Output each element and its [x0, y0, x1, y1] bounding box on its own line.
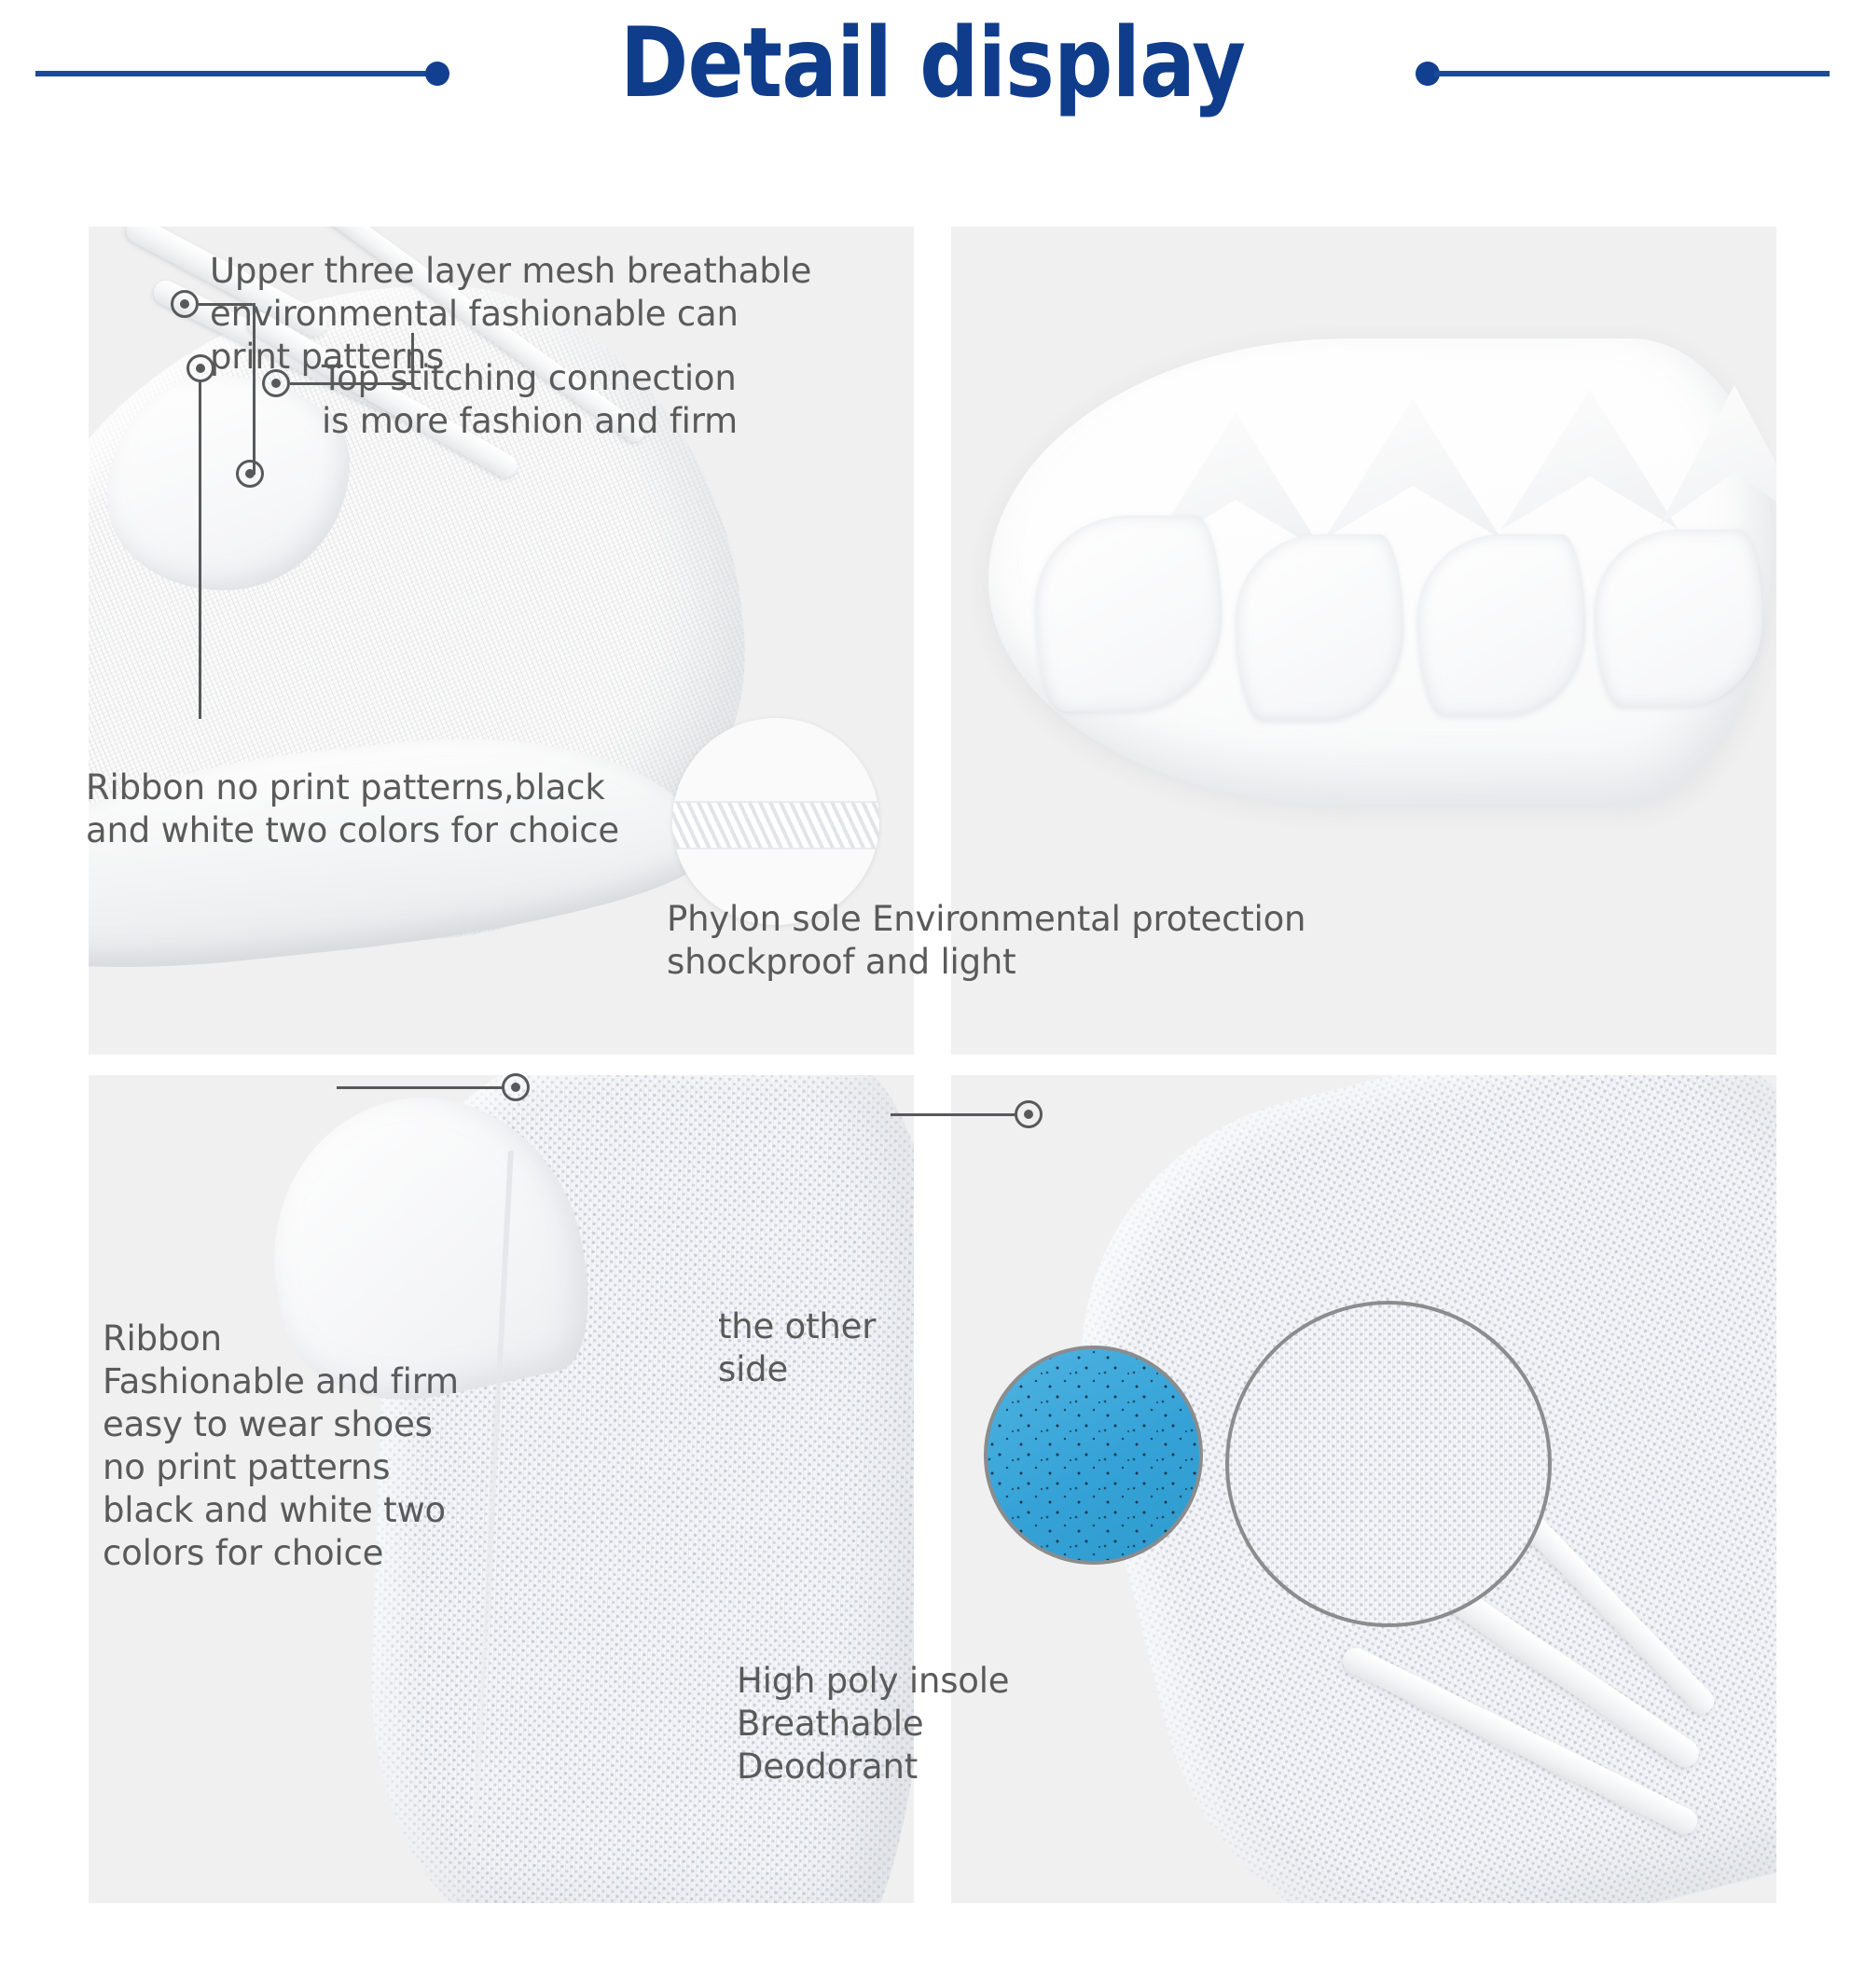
page-header: Detail display — [0, 0, 1865, 157]
stitching-band — [672, 801, 879, 849]
caption-top-stitching: Top stitching connection is more fashion… — [322, 357, 844, 443]
insole-zoom-circle — [984, 1346, 1203, 1565]
callout-marker-upper-mesh[interactable] — [171, 290, 199, 318]
leader-line-insole — [891, 1113, 1017, 1116]
caption-ribbon-heel: Ribbon Fashionable and firm easy to wear… — [103, 1318, 587, 1575]
tread-block — [1417, 534, 1585, 716]
header-decorative-line-right — [1434, 71, 1830, 76]
caption-phylon-sole: Phylon sole Environmental protection sho… — [667, 898, 1413, 984]
stitching-zoom-circle — [672, 718, 879, 925]
leader-line-ribbon-heel — [337, 1086, 504, 1089]
tread-block — [1595, 530, 1762, 707]
caption-other-side: the other side — [718, 1305, 960, 1391]
detail-display-page: Detail display — [0, 0, 1865, 1988]
leader-line-upper-mesh-end — [250, 472, 256, 475]
leader-line-ribbon — [199, 380, 201, 719]
tread-block — [1035, 516, 1222, 711]
tread-block — [1236, 534, 1403, 721]
callout-marker-ribbon-heel[interactable] — [502, 1073, 530, 1101]
caption-ribbon-toe: Ribbon no print patterns,black and white… — [86, 766, 692, 852]
callout-marker-insole[interactable] — [1015, 1100, 1043, 1128]
mesh-zoom-circle — [1225, 1301, 1552, 1627]
caption-high-poly-insole: High poly insole Breathable Deodorant — [737, 1660, 1128, 1788]
page-title: Detail display — [131, 11, 1734, 117]
